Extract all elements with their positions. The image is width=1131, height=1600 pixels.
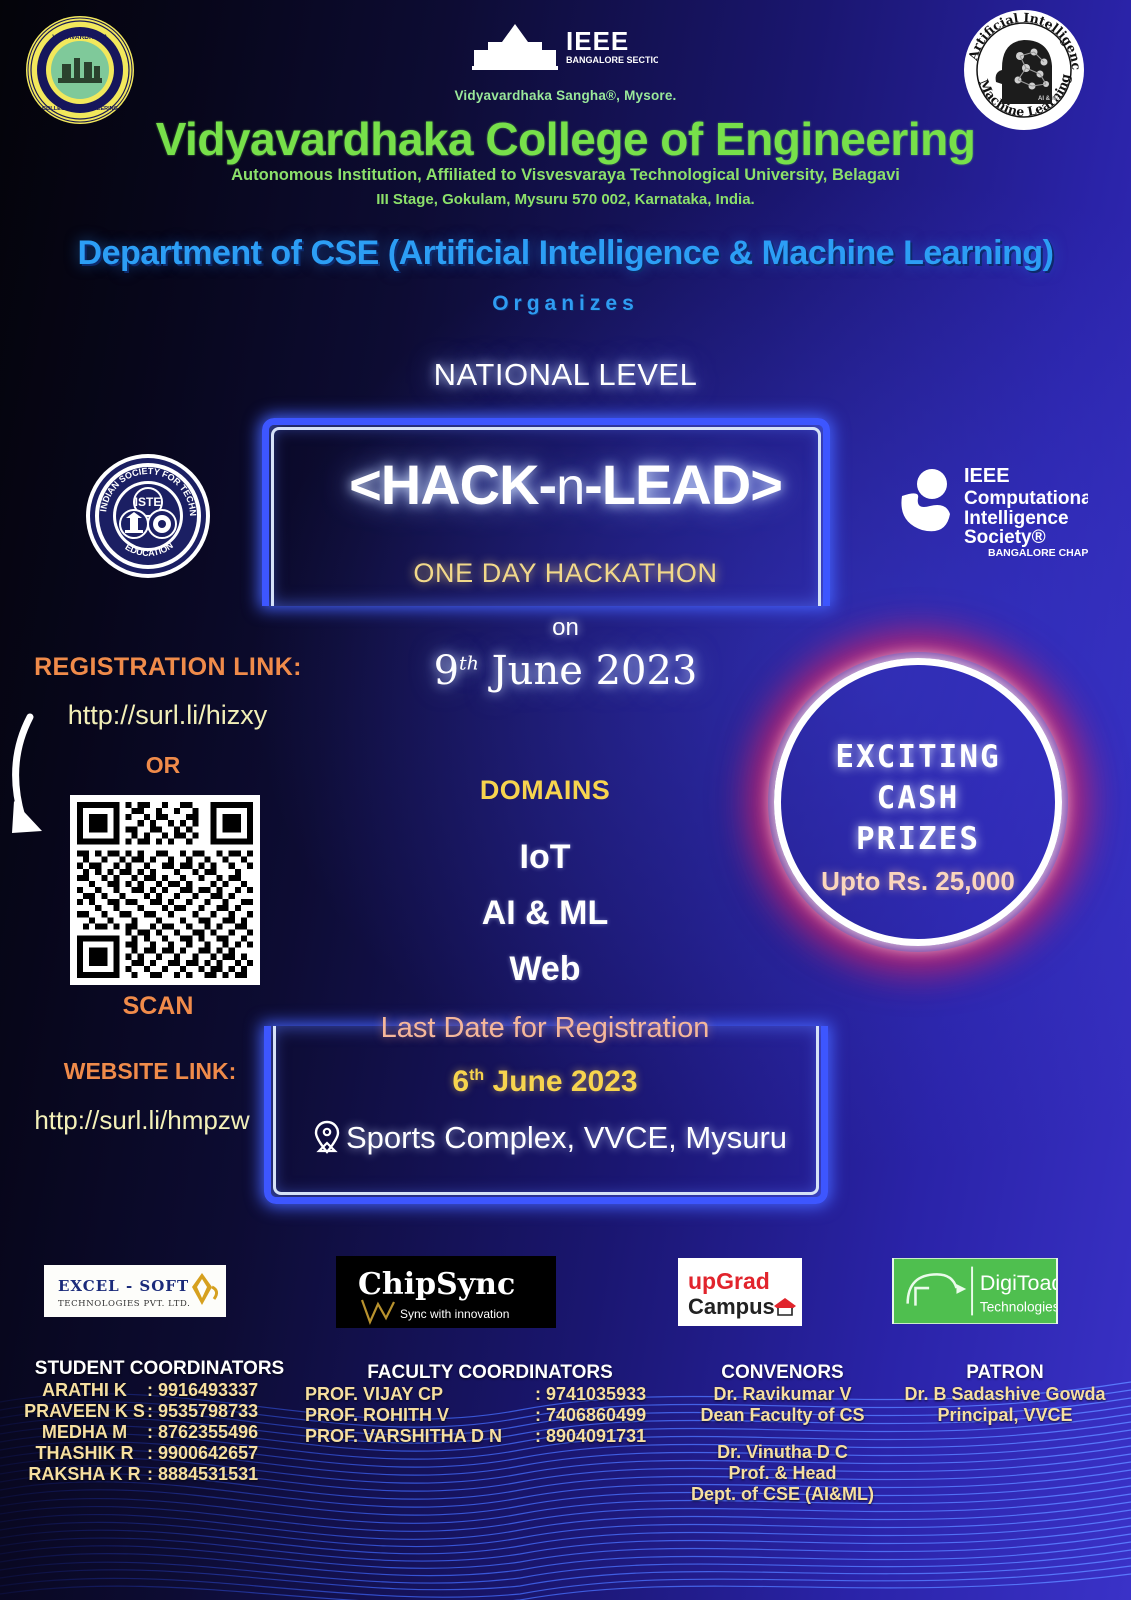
coordinator-phone: : 9741035933 [535,1384,646,1405]
spacer [680,1426,885,1442]
event-title-close: -LEAD> [584,453,782,516]
coordinator-name: MEDHA M [22,1422,147,1443]
list-item: PRAVEEN K S: 9535798733 [22,1401,297,1422]
svg-text:TECHNOLOGIES PVT. LTD.: TECHNOLOGIES PVT. LTD. [58,1299,190,1309]
coordinator-phone: : 9535798733 [147,1401,258,1422]
list-item: PROF. VIJAY CP: 9741035933 [305,1384,675,1405]
svg-text:IEEE: IEEE [964,465,1010,487]
coordinator-phone: : 8884531531 [147,1464,258,1485]
coordinator-phone: : 9900642657 [147,1443,258,1464]
convenor-role: Dean Faculty of CS [680,1405,885,1426]
coordinator-name: RAKSHA K R [22,1464,147,1485]
list-item: RAKSHA K R: 8884531531 [22,1464,297,1485]
vvce-college-logo: VIDYAVARDHAKA COLLEGE OF ENGINEERING [24,14,136,126]
student-coordinators-title: STUDENT COORDINATORS [22,1358,297,1380]
event-level: NATIONAL LEVEL [0,357,1131,393]
registration-qr-code[interactable] [70,795,260,985]
prize-line-1: EXCITING [768,739,1068,775]
svg-text:upGrad: upGrad [688,1268,770,1294]
cash-prize-badge: EXCITING CASH PRIZES Upto Rs. 25,000 [768,652,1068,952]
patron-title: PATRON [890,1362,1120,1384]
patron-block: PATRON Dr. B Sadashive Gowda Principal, … [890,1362,1120,1426]
list-item: THASHIK R: 9900642657 [22,1443,297,1464]
poster-canvas: VIDYAVARDHAKA COLLEGE OF ENGINEERING IE [0,0,1131,1600]
coordinator-name: PROF. VARSHITHA D N [305,1426,535,1447]
sponsor-upgrad-campus: upGrad Campus [678,1258,802,1326]
prize-line-2: CASH [768,780,1068,816]
list-item: MEDHA M: 8762355496 [22,1422,297,1443]
page-title: Vidyavardhaka College of Engineering [0,112,1131,166]
location-pin-icon [313,1120,341,1162]
svg-text:Society®: Society® [964,527,1046,548]
last-date-value: 6th June 2023 [280,1065,810,1099]
coordinator-phone: : 9916493337 [147,1380,258,1401]
faculty-coordinators-block: FACULTY COORDINATORS PROF. VIJAY CP: 974… [305,1362,675,1447]
coordinator-name: ARATHI K [22,1380,147,1401]
patron-role: Principal, VVCE [890,1405,1120,1426]
svg-text:Technologies: Technologies [980,1299,1056,1314]
svg-text:Campus: Campus [688,1294,775,1319]
venue-text: Sports Complex, VVCE, Mysuru [280,1120,820,1162]
svg-text:Intelligence: Intelligence [964,508,1069,529]
convenors-title: CONVENORS [680,1362,885,1384]
prize-amount: Upto Rs. 25,000 [768,866,1068,897]
domains-heading: DOMAINS [280,775,810,806]
svg-text:IEEE: IEEE [566,26,629,56]
coordinator-name: PROF. ROHITH V [305,1405,535,1426]
coordinator-name: PRAVEEN K S [22,1401,147,1422]
convenor-role: Prof. & Head [680,1463,885,1484]
svg-text:ISTE: ISTE [135,495,162,509]
event-date-sup: th [459,653,479,675]
faculty-coordinators-title: FACULTY COORDINATORS [305,1362,675,1384]
website-link-heading: WEBSITE LINK: [10,1058,290,1085]
svg-text:BANGALORE SECTION: BANGALORE SECTION [566,55,658,65]
patron-name: Dr. B Sadashive Gowda [890,1384,1120,1405]
prize-line-3: PRIZES [768,821,1068,857]
affiliation-text: Autonomous Institution, Affiliated to Vi… [0,166,1131,185]
domain-item: IoT [280,838,810,877]
svg-text:VIDYAVARDHAKA: VIDYAVARDHAKA [52,34,108,41]
list-item: ARATHI K: 9916493337 [22,1380,297,1401]
organizes-label: Organizes [0,292,1131,316]
domain-item: Web [280,950,810,989]
ieee-bangalore-section-logo: IEEE BANGALORE SECTION [468,20,658,78]
last-date-label: Last Date for Registration [280,1012,810,1045]
event-date-day: 9 [434,648,459,694]
convenor-name: Dr. Ravikumar V [680,1384,885,1405]
svg-text:EXCEL - SOFT: EXCEL - SOFT [58,1277,189,1295]
scan-label: SCAN [18,992,298,1021]
sponsor-digitoad: DigiToad Technologies [892,1258,1058,1324]
convenors-block: CONVENORS Dr. Ravikumar V Dean Faculty o… [680,1362,885,1505]
convenor-dept: Dept. of CSE (AI&ML) [680,1484,885,1505]
student-coordinators-block: STUDENT COORDINATORS ARATHI K: 991649333… [22,1358,297,1485]
department-title: Department of CSE (Artificial Intelligen… [0,234,1131,273]
list-item: PROF. VARSHITHA D N: 8904091731 [305,1426,675,1447]
address-text: III Stage, Gokulam, Mysuru 570 002, Karn… [0,191,1131,208]
website-link[interactable]: http://surl.li/hmpzw [2,1105,282,1136]
venue-neon-frame [264,1026,828,1204]
event-date-rest: June 2023 [492,648,698,694]
svg-text:Sync with innovation: Sync with innovation [400,1307,509,1321]
last-date-day: 6 [452,1065,469,1098]
last-date-sup: th [469,1067,484,1084]
coordinator-name: PROF. VIJAY CP [305,1384,535,1405]
sponsor-excel-soft: EXCEL - SOFT TECHNOLOGIES PVT. LTD. [44,1265,226,1317]
event-title-open: <HACK- [349,453,556,516]
domain-item: AI & ML [280,894,810,933]
last-date-rest: June 2023 [493,1065,638,1098]
registration-link-heading: REGISTRATION LINK: [18,653,318,682]
list-item: PROF. ROHITH V: 7406860499 [305,1405,675,1426]
coordinator-name: THASHIK R [22,1443,147,1464]
ieee-computational-intelligence-society-logo: IEEE Computational Intelligence Society®… [888,456,1088,560]
convenor-name: Dr. Vinutha D C [680,1442,885,1463]
coordinator-phone: : 7406860499 [535,1405,646,1426]
iste-logo: ISTE INDIAN SOCIETY FOR TECHNICAL EDUCAT… [84,452,212,580]
sponsor-chipsync: ChipSync Sync with innovation [336,1256,556,1328]
svg-text:ChipSync: ChipSync [358,1267,515,1302]
svg-text:BANGALORE CHAPTER: BANGALORE CHAPTER [988,547,1088,559]
coordinator-phone: : 8762355496 [147,1422,258,1443]
on-label: on [0,614,1131,642]
coordinator-phone: : 8904091731 [535,1426,646,1447]
venue-label: Sports Complex, VVCE, Mysuru [346,1120,787,1155]
svg-text:Computational: Computational [964,488,1088,509]
event-title-mid: n [556,458,584,516]
sangha-text: Vidyavardhaka Sangha®, Mysore. [0,88,1131,103]
svg-text:DigiToad: DigiToad [980,1271,1056,1295]
